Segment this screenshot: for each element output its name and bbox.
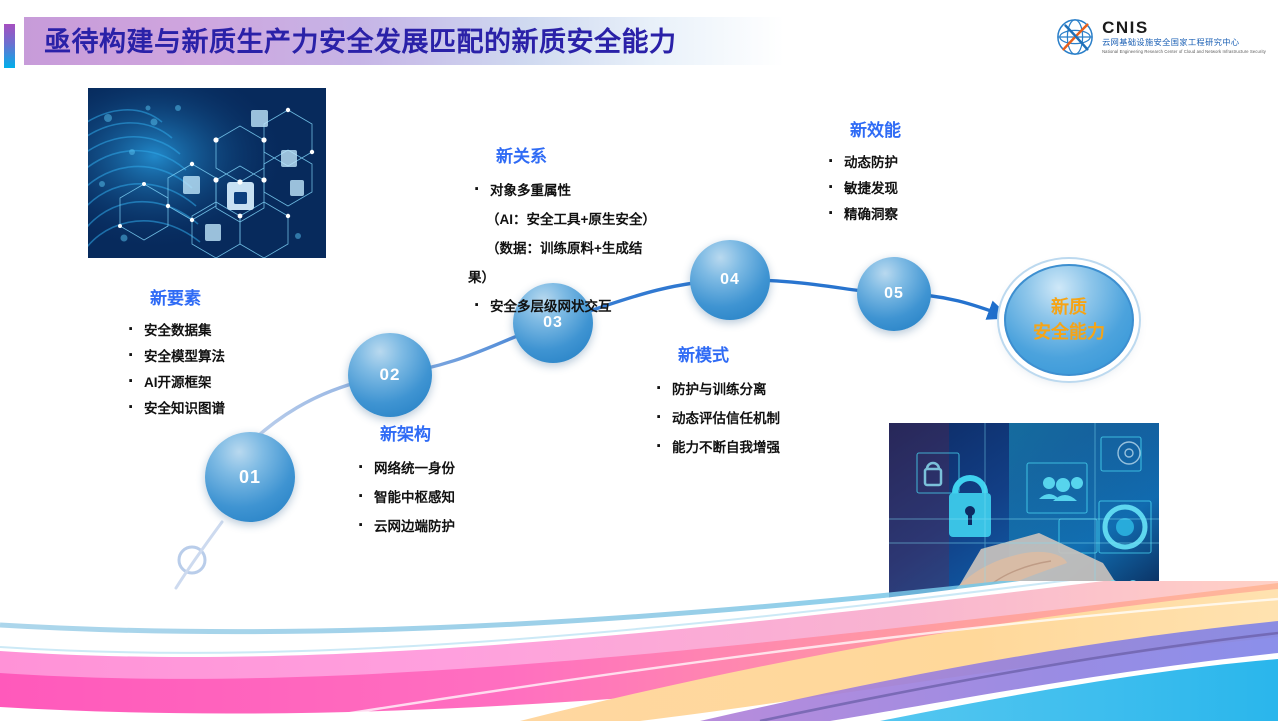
list-item: 防护与训练分离	[650, 375, 780, 404]
list-item: 安全多层级网状交互	[468, 292, 656, 321]
list-item: 动态防护	[822, 150, 901, 176]
list-item: 对象多重属性	[468, 176, 656, 205]
block-new-relation: 新关系 对象多重属性 （AI：安全工具+原生安全） （数据：训练原料+生成结 果…	[468, 142, 656, 321]
block-relation-heading: 新关系	[468, 142, 656, 167]
list-item: AI开源框架	[122, 370, 225, 396]
digital-security-photo	[889, 423, 1159, 603]
page-title: 亟待构建与新质生产力安全发展匹配的新质安全能力	[44, 24, 677, 60]
list-item: 智能中枢感知	[352, 483, 455, 512]
block-new-elements: 新要素 安全数据集 安全模型算法 AI开源框架 安全知识图谱	[122, 284, 225, 422]
block-mode-list: 防护与训练分离 动态评估信任机制 能力不断自我增强	[650, 375, 780, 462]
globe-icon	[1056, 18, 1094, 56]
flow-node-02[interactable]: 02	[348, 333, 432, 417]
flow-node-05[interactable]: 05	[857, 257, 931, 331]
list-item: 能力不断自我增强	[650, 433, 780, 462]
slide-canvas: 亟待构建与新质生产力安全发展匹配的新质安全能力 CNIS 云网基础设施安全国家工…	[0, 0, 1278, 721]
block-new-architecture: 新架构 网络统一身份 智能中枢感知 云网边端防护	[352, 420, 455, 541]
block-new-mode: 新模式 防护与训练分离 动态评估信任机制 能力不断自我增强	[650, 341, 780, 462]
logo-name: CNIS	[1102, 19, 1266, 37]
list-item: 果）	[468, 263, 656, 292]
result-line-2: 安全能力	[1033, 320, 1105, 345]
block-elements-heading: 新要素	[122, 284, 225, 309]
list-item: （数据：训练原料+生成结	[468, 234, 656, 263]
list-item: 网络统一身份	[352, 454, 455, 483]
block-new-effectiveness: 新效能 动态防护 敏捷发现 精确洞察	[822, 116, 901, 228]
list-item: 安全知识图谱	[122, 396, 225, 422]
block-mode-heading: 新模式	[650, 341, 780, 366]
flow-node-result[interactable]: 新质 安全能力	[1004, 264, 1134, 376]
cnis-logo: CNIS 云网基础设施安全国家工程研究中心 National Engineeri…	[1056, 18, 1266, 56]
list-item: 安全数据集	[122, 318, 225, 344]
title-accent-bar	[4, 24, 15, 68]
result-line-1: 新质	[1051, 295, 1087, 320]
cybersecurity-photo	[88, 88, 326, 258]
flow-node-04[interactable]: 04	[690, 240, 770, 320]
decorative-ribbon	[0, 581, 1278, 721]
flow-node-01[interactable]: 01	[205, 432, 295, 522]
list-item: （AI：安全工具+原生安全）	[468, 205, 656, 234]
list-item: 敏捷发现	[822, 176, 901, 202]
list-item: 云网边端防护	[352, 512, 455, 541]
block-effect-heading: 新效能	[822, 116, 901, 141]
logo-en-subtitle: National Engineering Research Center of …	[1102, 48, 1266, 55]
block-architecture-heading: 新架构	[352, 420, 455, 445]
block-architecture-list: 网络统一身份 智能中枢感知 云网边端防护	[352, 454, 455, 541]
block-effect-list: 动态防护 敏捷发现 精确洞察	[822, 150, 901, 228]
list-item: 精确洞察	[822, 202, 901, 228]
list-item: 动态评估信任机制	[650, 404, 780, 433]
list-item: 安全模型算法	[122, 344, 225, 370]
logo-cn-subtitle: 云网基础设施安全国家工程研究中心	[1102, 37, 1266, 48]
block-relation-list: 对象多重属性 （AI：安全工具+原生安全） （数据：训练原料+生成结 果） 安全…	[468, 176, 656, 321]
logo-wordmark: CNIS 云网基础设施安全国家工程研究中心 National Engineeri…	[1102, 19, 1266, 55]
block-elements-list: 安全数据集 安全模型算法 AI开源框架 安全知识图谱	[122, 318, 225, 422]
